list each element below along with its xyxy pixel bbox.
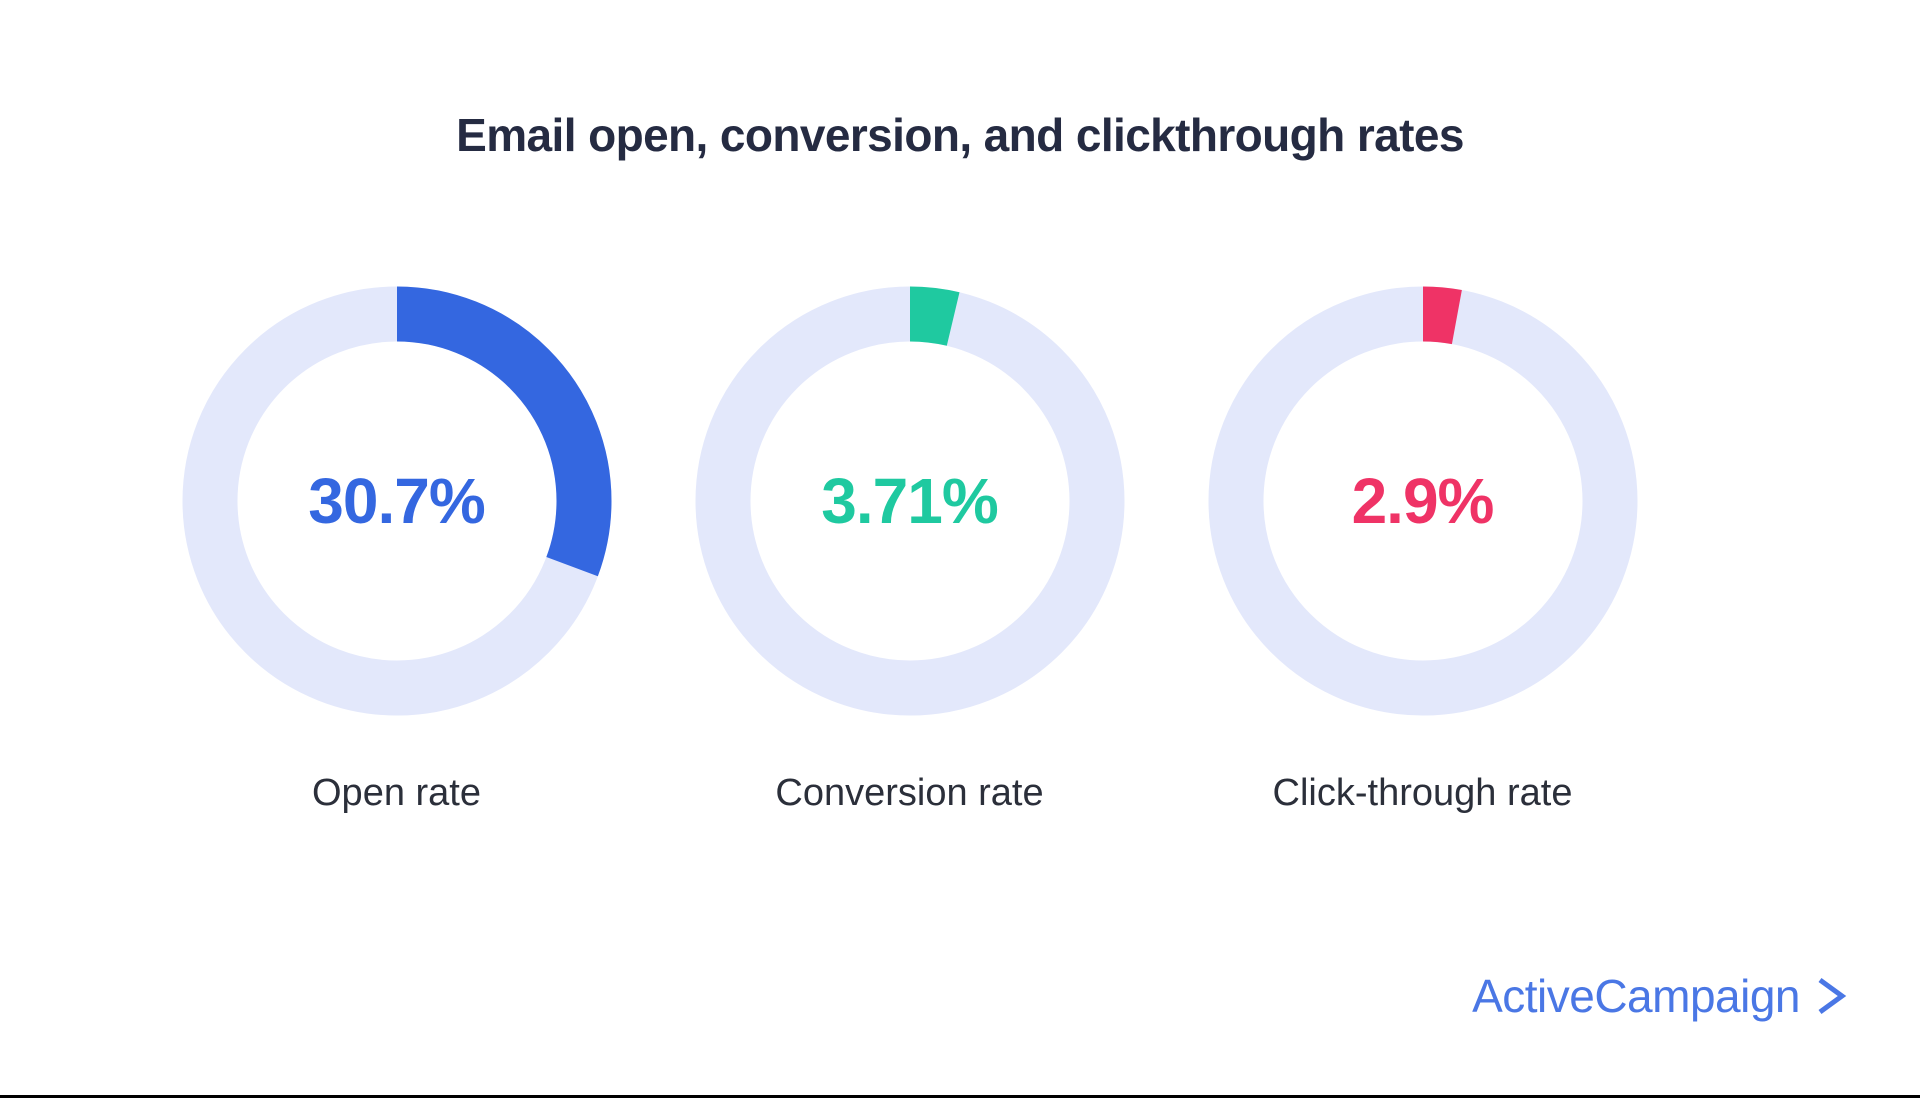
brand-logo: ActiveCampaign <box>1472 969 1850 1023</box>
donut-chart-row: 30.7% Open rate 3.71% Conversion rate <box>140 270 1680 790</box>
donut-label-conversion-rate: Conversion rate <box>775 772 1043 815</box>
donut-graphic-open-rate: 30.7% <box>166 270 628 732</box>
chevron-right-icon <box>1812 974 1850 1018</box>
donut-chart-open-rate: 30.7% Open rate <box>140 270 653 815</box>
donut-chart-conversion-rate: 3.71% Conversion rate <box>653 270 1166 815</box>
donut-chart-click-through-rate: 2.9% Click-through rate <box>1166 270 1679 815</box>
donut-graphic-click-through-rate: 2.9% <box>1192 270 1654 732</box>
infographic-canvas: Email open, conversion, and clickthrough… <box>0 0 1920 1098</box>
donut-value-click-through-rate: 2.9% <box>1192 270 1654 732</box>
donut-value-conversion-rate: 3.71% <box>679 270 1141 732</box>
donut-label-open-rate: Open rate <box>312 772 481 815</box>
donut-value-open-rate: 30.7% <box>166 270 628 732</box>
brand-name: ActiveCampaign <box>1472 969 1800 1023</box>
donut-graphic-conversion-rate: 3.71% <box>679 270 1141 732</box>
donut-label-click-through-rate: Click-through rate <box>1273 772 1573 815</box>
page-title: Email open, conversion, and clickthrough… <box>0 108 1920 162</box>
